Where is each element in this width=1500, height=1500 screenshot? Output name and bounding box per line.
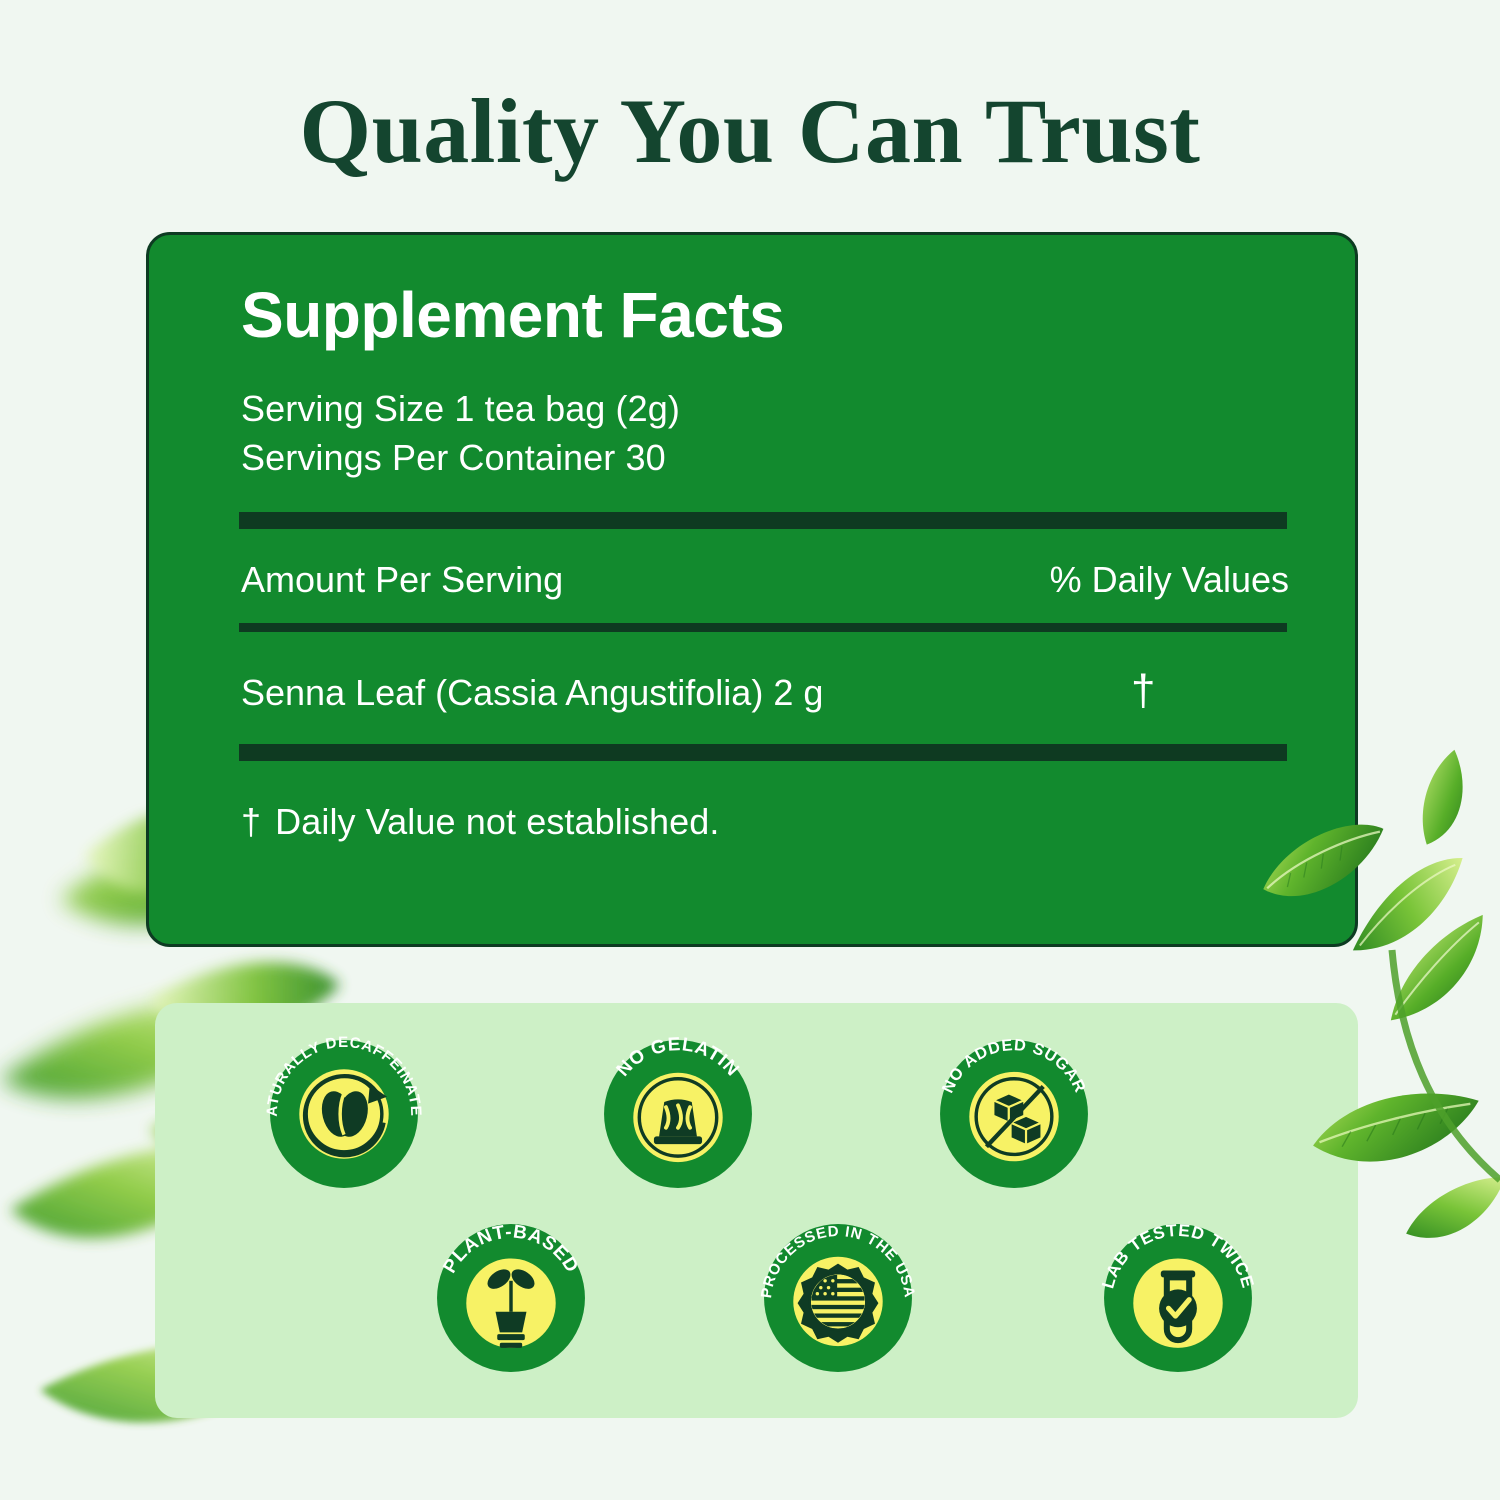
supplement-facts-panel: Supplement Facts Serving Size 1 tea bag … xyxy=(146,232,1358,947)
dagger-symbol: † xyxy=(241,801,261,842)
page-title: Quality You Can Trust xyxy=(0,78,1500,184)
supplement-facts-heading: Supplement Facts xyxy=(241,283,1299,347)
daily-values-label: % Daily Values xyxy=(989,559,1289,601)
amount-per-serving-label: Amount Per Serving xyxy=(241,559,989,601)
badge-lab-tested-twice: LAB TESTED TWICE xyxy=(1092,1212,1264,1384)
badge-no-added-sugar: NO ADDED SUGAR xyxy=(928,1028,1100,1200)
badge-processed-in-the-usa: PROCESSED IN THE USA xyxy=(752,1212,924,1384)
divider-thick-top xyxy=(239,512,1287,529)
footnote: †Daily Value not established. xyxy=(241,801,1299,843)
servings-per-container-text: Servings Per Container 30 xyxy=(241,434,1299,483)
table-header-row: Amount Per Serving % Daily Values xyxy=(241,559,1289,601)
badge-plant-based: PLANT-BASED xyxy=(425,1212,597,1384)
divider-medium xyxy=(239,623,1287,632)
ingredient-daily-value: † xyxy=(989,666,1289,716)
badge-no-gelatin: NO GELATIN xyxy=(592,1028,764,1200)
divider-thick-bottom xyxy=(239,744,1287,761)
table-row: Senna Leaf (Cassia Angustifolia) 2 g † xyxy=(241,666,1289,716)
footnote-text: Daily Value not established. xyxy=(275,801,719,842)
ingredient-name: Senna Leaf (Cassia Angustifolia) 2 g xyxy=(241,672,989,714)
badge-naturally-decaffeinated: NATURALLY DECAFFEINATED xyxy=(258,1028,430,1200)
serving-size-text: Serving Size 1 tea bag (2g) xyxy=(241,385,1299,434)
